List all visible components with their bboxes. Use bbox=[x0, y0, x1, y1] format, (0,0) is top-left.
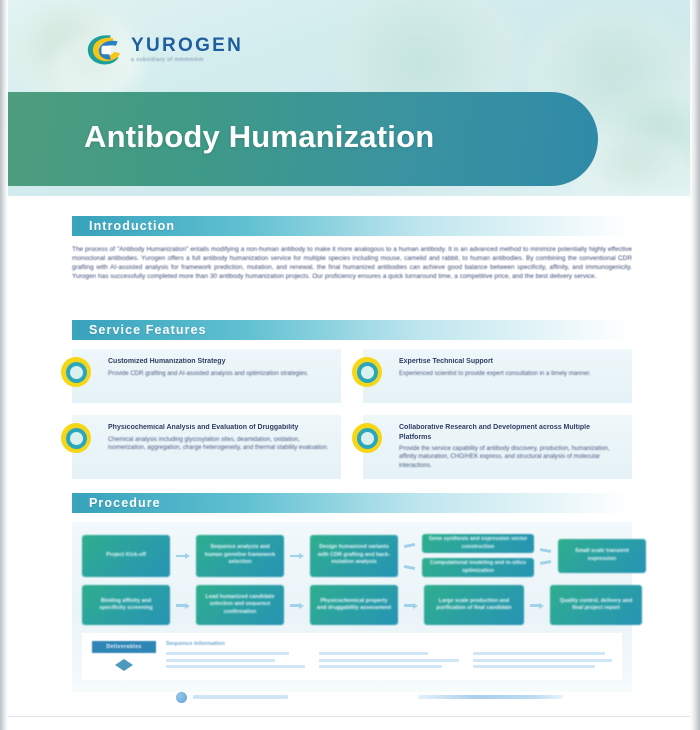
placeholder-line bbox=[319, 659, 458, 662]
deliverables-tag: Deliverables bbox=[92, 641, 156, 653]
procedure-heading-text: Procedure bbox=[89, 496, 161, 510]
flow-branch-stack: Gene synthesis and expression vector con… bbox=[422, 534, 534, 577]
footer-text-right bbox=[418, 695, 563, 699]
title-banner: Antibody Humanization bbox=[8, 92, 598, 186]
footer-text-left bbox=[193, 695, 288, 699]
brand-name: YUROGEN bbox=[131, 36, 243, 55]
feature-card[interactable]: Expertise Technical Support Experienced … bbox=[363, 349, 632, 403]
flow-node[interactable]: Physicochemical property and druggabilit… bbox=[310, 585, 398, 625]
deliverables-column bbox=[473, 641, 612, 672]
deliverables-column-header bbox=[473, 641, 612, 648]
feature-card-body: Chemical analysis including glycosylatio… bbox=[108, 436, 331, 453]
flow-arrow-icon bbox=[404, 603, 418, 608]
brand-tagline: a subsidiary of mmmmmm bbox=[131, 58, 243, 63]
page-footer bbox=[18, 686, 682, 708]
service-features-heading: Service Features bbox=[72, 320, 632, 340]
placeholder-line bbox=[473, 652, 605, 655]
feature-card[interactable]: Customized Humanization Strategy Provide… bbox=[72, 349, 341, 403]
support-circle-icon bbox=[352, 357, 382, 387]
content-sheet: Introduction The process of "Antibody Hu… bbox=[18, 196, 682, 730]
procedure-heading: Procedure bbox=[72, 493, 632, 513]
diamond-icon bbox=[115, 659, 133, 671]
brand-text: YUROGEN a subsidiary of mmmmmm bbox=[131, 36, 243, 63]
deliverables-column bbox=[319, 641, 458, 672]
platform-circle-icon bbox=[352, 423, 382, 453]
flow-node[interactable]: Lead humanized candidate selection and s… bbox=[196, 585, 284, 625]
brand-logo[interactable]: YUROGEN a subsidiary of mmmmmm bbox=[85, 33, 243, 67]
flow-node[interactable]: Large scale production and purification … bbox=[424, 585, 524, 625]
flow-row-2: Binding affinity and specificity screeni… bbox=[82, 585, 622, 625]
placeholder-line bbox=[473, 659, 612, 662]
feature-card-grid: Customized Humanization Strategy Provide… bbox=[72, 349, 632, 479]
feature-card-title: Collaborative Research and Development a… bbox=[399, 423, 622, 442]
globe-icon bbox=[176, 692, 187, 703]
placeholder-line bbox=[166, 665, 305, 668]
footer-divider bbox=[8, 716, 690, 717]
flow-arrow-icon bbox=[290, 603, 304, 608]
heading-gradient: Service Features bbox=[77, 320, 632, 340]
feature-card-title: Customized Humanization Strategy bbox=[108, 357, 331, 367]
service-features-heading-text: Service Features bbox=[89, 323, 207, 337]
deliverables-column-header bbox=[319, 641, 458, 648]
heading-gradient: Introduction bbox=[77, 216, 632, 236]
procedure-flowchart: Project Kick-off Sequence analysis and h… bbox=[72, 522, 632, 692]
flow-node[interactable]: Small scale transient expression bbox=[558, 539, 646, 573]
feature-card[interactable]: Physicochemical Analysis and Evaluation … bbox=[72, 415, 341, 479]
flow-row-1: Project Kick-off Sequence analysis and h… bbox=[82, 534, 622, 577]
feature-card[interactable]: Collaborative Research and Development a… bbox=[363, 415, 632, 479]
introduction-heading-text: Introduction bbox=[89, 219, 175, 233]
flow-node[interactable]: Quality control, delivery and final proj… bbox=[550, 585, 642, 625]
flow-node[interactable]: Gene synthesis and expression vector con… bbox=[422, 534, 534, 553]
flow-merge-arrow-icon bbox=[540, 535, 552, 577]
placeholder-line bbox=[166, 652, 289, 655]
flow-arrow-icon bbox=[176, 553, 190, 558]
deliverables-column: Sequence information bbox=[166, 641, 305, 672]
feature-card-body: Provide the service capability of antibo… bbox=[399, 445, 622, 470]
flow-node[interactable]: Binding affinity and specificity screeni… bbox=[82, 585, 170, 625]
feature-card-body: Provide CDR grafting and AI-assisted ana… bbox=[108, 370, 331, 378]
introduction-paragraph: The process of "Antibody Humanization" e… bbox=[72, 245, 632, 281]
flow-node[interactable]: Design humanized variants with CDR graft… bbox=[310, 535, 398, 577]
placeholder-line bbox=[166, 659, 275, 662]
introduction-heading: Introduction bbox=[72, 216, 632, 236]
section-service-features: Service Features Customized Humanization… bbox=[72, 320, 632, 479]
feature-card-title: Physicochemical Analysis and Evaluation … bbox=[108, 423, 331, 433]
placeholder-line bbox=[319, 652, 428, 655]
page-title: Antibody Humanization bbox=[84, 119, 434, 155]
deliverables-column-header: Sequence information bbox=[166, 641, 305, 648]
flow-branch-arrow-icon bbox=[404, 535, 416, 577]
deliverables-tag-group: Deliverables bbox=[92, 641, 156, 672]
deliverables-columns: Sequence information bbox=[166, 641, 612, 672]
section-introduction: Introduction The process of "Antibody Hu… bbox=[72, 216, 632, 281]
flow-arrow-icon bbox=[530, 603, 544, 608]
analysis-circle-icon bbox=[61, 423, 91, 453]
heading-gradient: Procedure bbox=[77, 493, 632, 513]
flow-node[interactable]: Computational modeling and in-silico opt… bbox=[422, 558, 534, 577]
strategy-circle-icon bbox=[61, 357, 91, 387]
poster-page: YUROGEN a subsidiary of mmmmmm Antibody … bbox=[0, 0, 700, 730]
flow-node[interactable]: Sequence analysis and human germline fra… bbox=[196, 535, 284, 577]
flow-arrow-icon bbox=[176, 603, 190, 608]
flow-arrow-icon bbox=[290, 553, 304, 558]
section-procedure: Procedure Project Kick-off Sequence anal… bbox=[72, 493, 632, 692]
feature-card-body: Experienced scientist to provide expert … bbox=[399, 370, 622, 378]
yurogen-swirl-logo-icon bbox=[85, 33, 123, 67]
feature-card-title: Expertise Technical Support bbox=[399, 357, 622, 367]
flow-node[interactable]: Project Kick-off bbox=[82, 535, 170, 577]
placeholder-line bbox=[473, 665, 596, 668]
placeholder-line bbox=[319, 665, 442, 668]
deliverables-card: Deliverables Sequence information bbox=[82, 633, 622, 680]
